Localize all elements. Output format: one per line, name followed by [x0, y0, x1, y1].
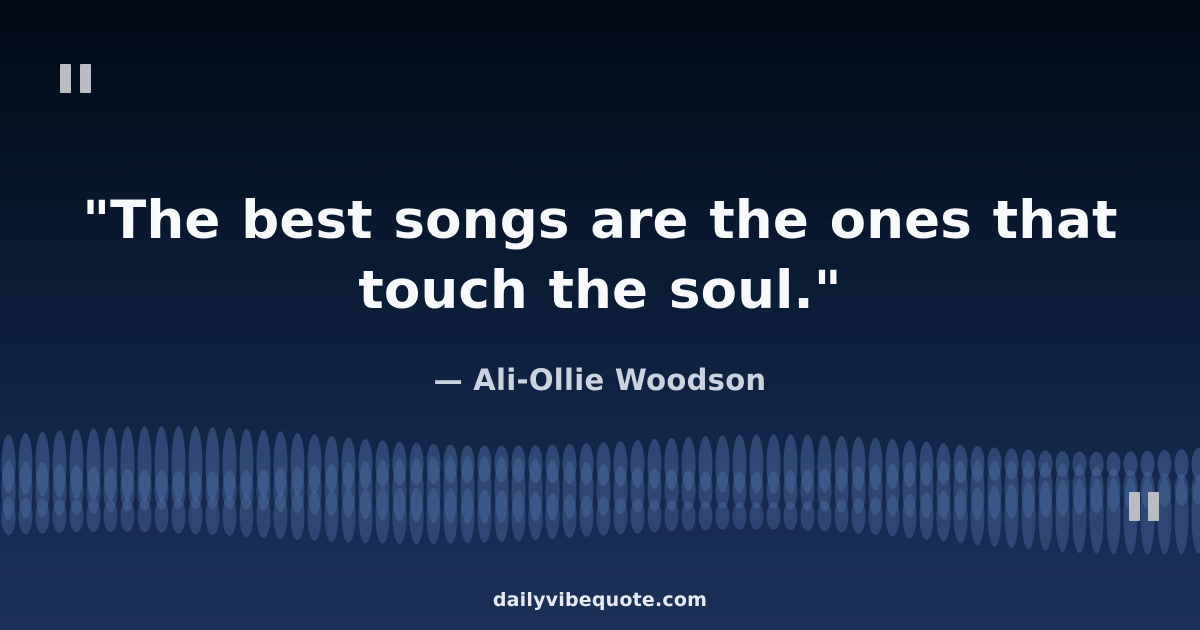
- quote-mark-bar: [60, 64, 71, 93]
- quote-mark-bar: [80, 64, 91, 93]
- audio-waveform-graphic: [0, 398, 1200, 558]
- quote-text: "The best songs are the ones that touch …: [50, 186, 1150, 326]
- quote-mark-bar: [1148, 492, 1159, 521]
- quote-mark-close-icon: [1129, 492, 1159, 521]
- site-footer: dailyvibequote.com: [0, 589, 1200, 611]
- quote-card: "The best songs are the ones that touch …: [0, 0, 1200, 630]
- quote-mark-open-icon: [60, 64, 91, 93]
- quote-attribution: — Ali-Ollie Woodson: [50, 363, 1150, 397]
- quote-mark-bar: [1129, 492, 1140, 521]
